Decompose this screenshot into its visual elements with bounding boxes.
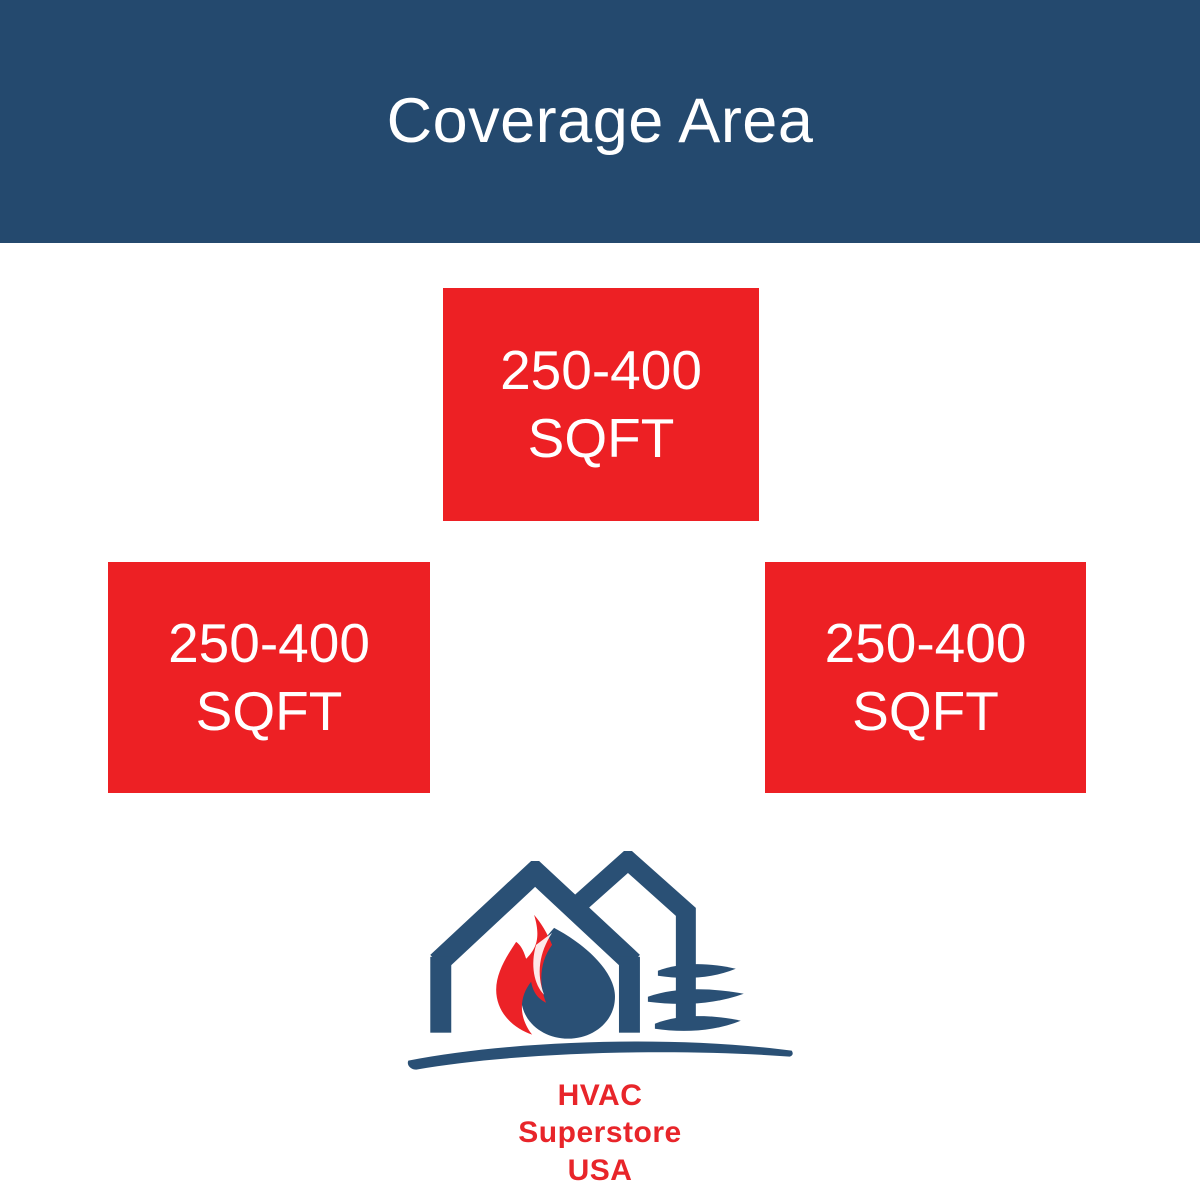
logo-wordmark: HVAC Superstore USA [518, 1077, 681, 1190]
brand-logo: HVAC Superstore USA [400, 845, 800, 1190]
logo-wordmark-line-2: Superstore [518, 1114, 681, 1152]
coverage-box-right-range: 250-400 [825, 610, 1027, 677]
coverage-box-left-range: 250-400 [168, 610, 370, 677]
coverage-box-top-range: 250-400 [500, 337, 702, 404]
hvac-house-flame-droplet-airflow-logo-icon [400, 845, 800, 1075]
logo-wordmark-line-3: USA [518, 1152, 681, 1190]
header-banner: Coverage Area [0, 0, 1200, 243]
coverage-box-top: 250-400 SQFT [443, 288, 759, 521]
coverage-box-right-unit: SQFT [852, 678, 999, 745]
coverage-box-top-unit: SQFT [528, 405, 675, 472]
coverage-box-right: 250-400 SQFT [765, 562, 1086, 793]
coverage-box-left-unit: SQFT [196, 678, 343, 745]
page-title: Coverage Area [387, 90, 814, 153]
logo-wordmark-line-1: HVAC [518, 1077, 681, 1115]
coverage-box-left: 250-400 SQFT [108, 562, 430, 793]
